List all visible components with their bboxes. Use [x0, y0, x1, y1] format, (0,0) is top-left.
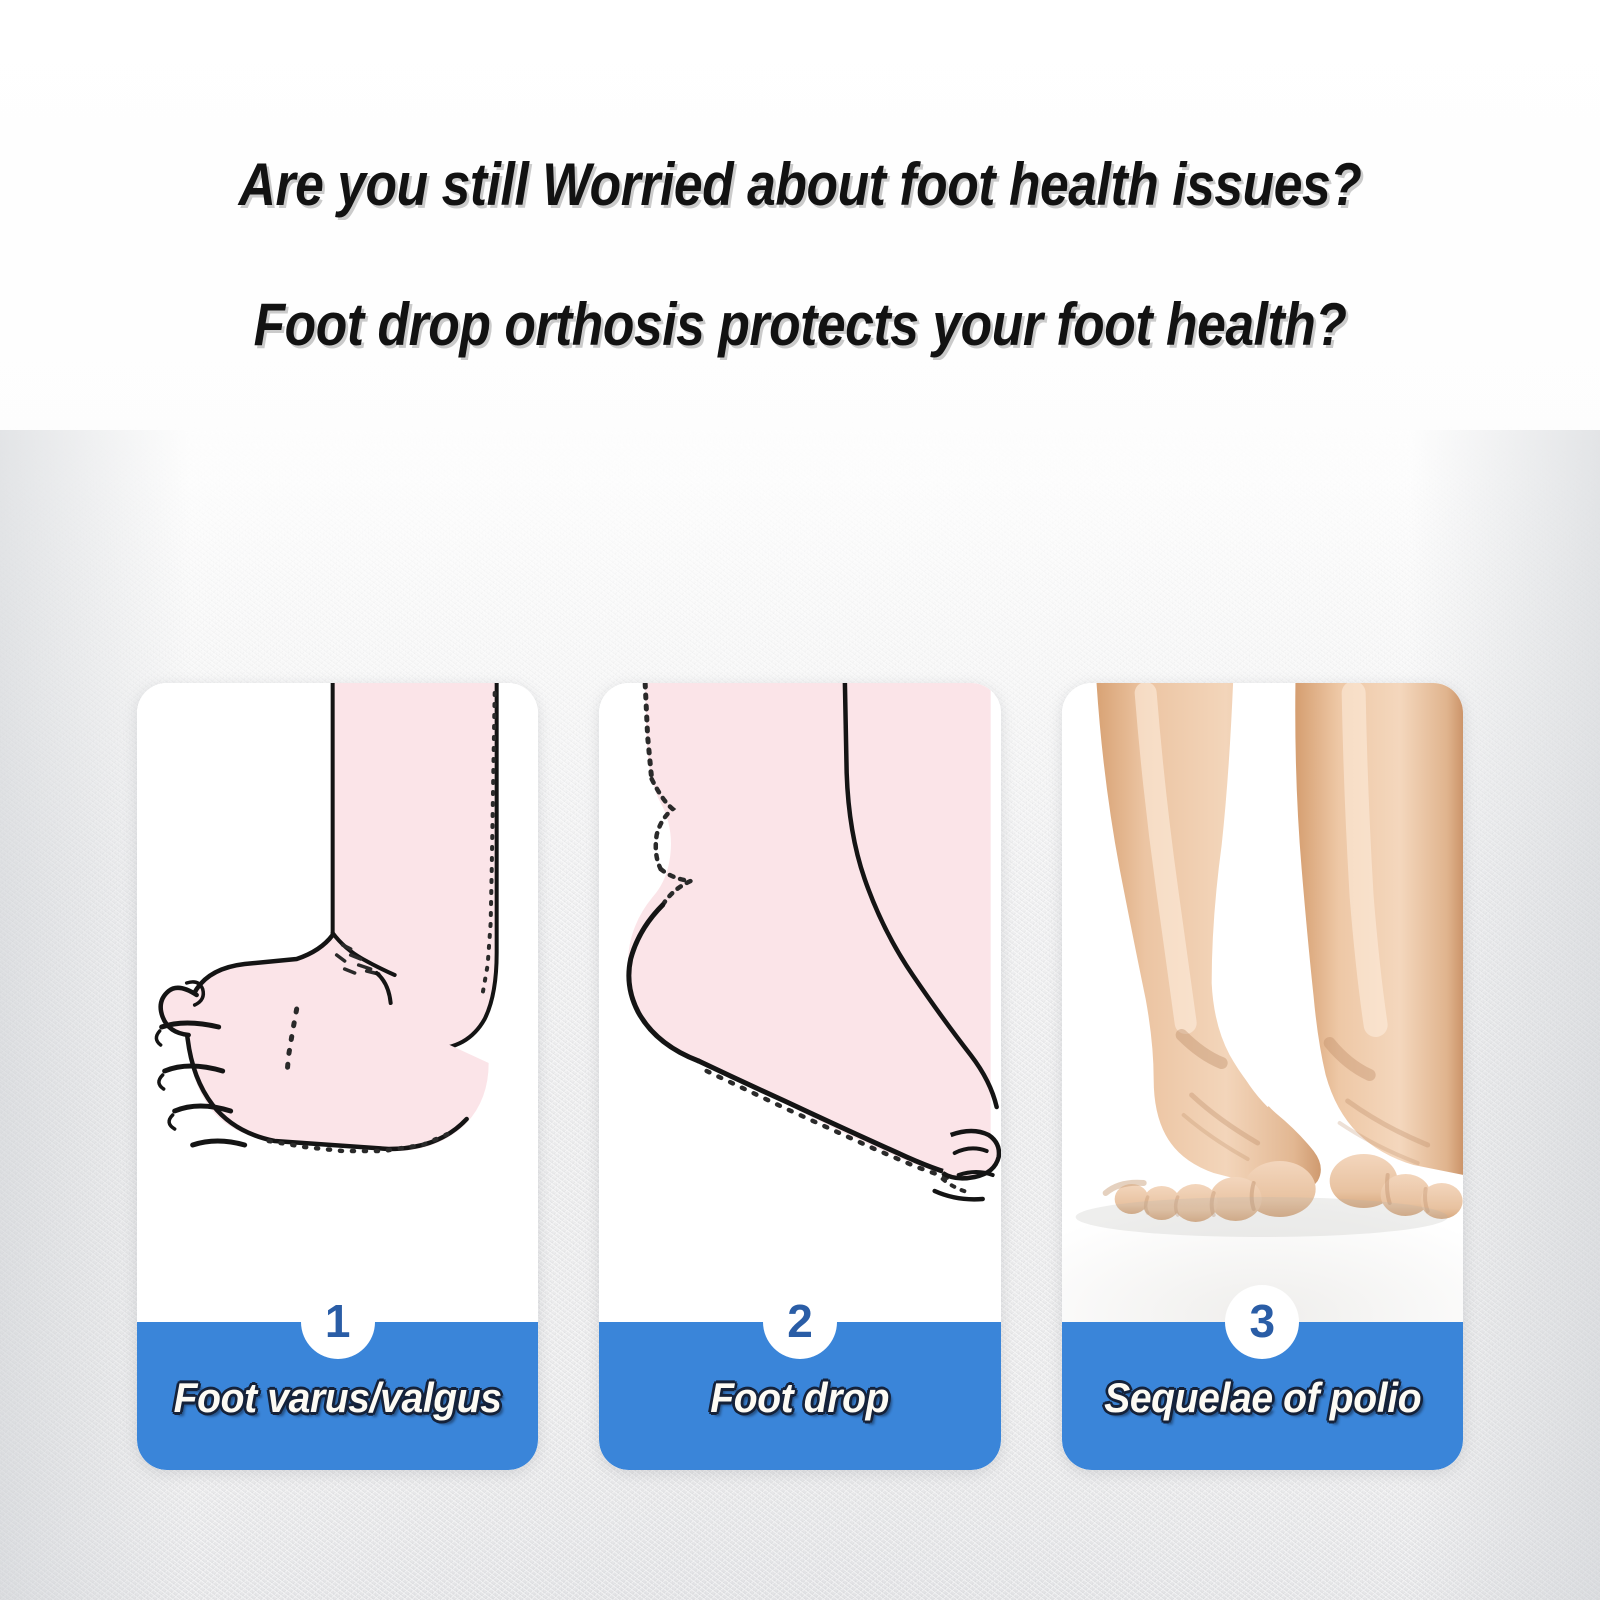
card-2-banner: 2 Foot drop — [599, 1322, 1000, 1470]
condition-card-1[interactable]: 1 Foot varus/valgus — [137, 683, 538, 1470]
card-3-number-badge: 3 — [1225, 1285, 1299, 1359]
card-1-banner: 1 Foot varus/valgus — [137, 1322, 538, 1470]
card-3-photo-area — [1062, 683, 1463, 1322]
card-1-number-badge: 1 — [301, 1285, 375, 1359]
headline-primary: Are you still Worried about foot health … — [112, 150, 1488, 219]
card-2-label: Foot drop — [613, 1374, 986, 1422]
condition-card-3[interactable]: 3 Sequelae of polio — [1062, 683, 1463, 1470]
bare-feet-photo-icon — [1062, 683, 1463, 1322]
card-1-label: Foot varus/valgus — [151, 1374, 524, 1422]
card-2-number-badge: 2 — [763, 1285, 837, 1359]
card-1-illustration-area — [137, 683, 538, 1322]
headline-secondary: Foot drop orthosis protects your foot he… — [112, 290, 1488, 359]
condition-card-row: 1 Foot varus/valgus — [137, 683, 1463, 1470]
card-3-banner: 3 Sequelae of polio — [1062, 1322, 1463, 1470]
foot-varus-line-drawing-icon — [137, 683, 538, 1322]
infographic-stage: Are you still Worried about foot health … — [0, 0, 1600, 1600]
card-2-illustration-area — [599, 683, 1000, 1322]
condition-card-2[interactable]: 2 Foot drop — [599, 683, 1000, 1470]
foot-drop-line-drawing-icon — [599, 683, 1000, 1322]
card-3-label: Sequelae of polio — [1076, 1374, 1449, 1422]
